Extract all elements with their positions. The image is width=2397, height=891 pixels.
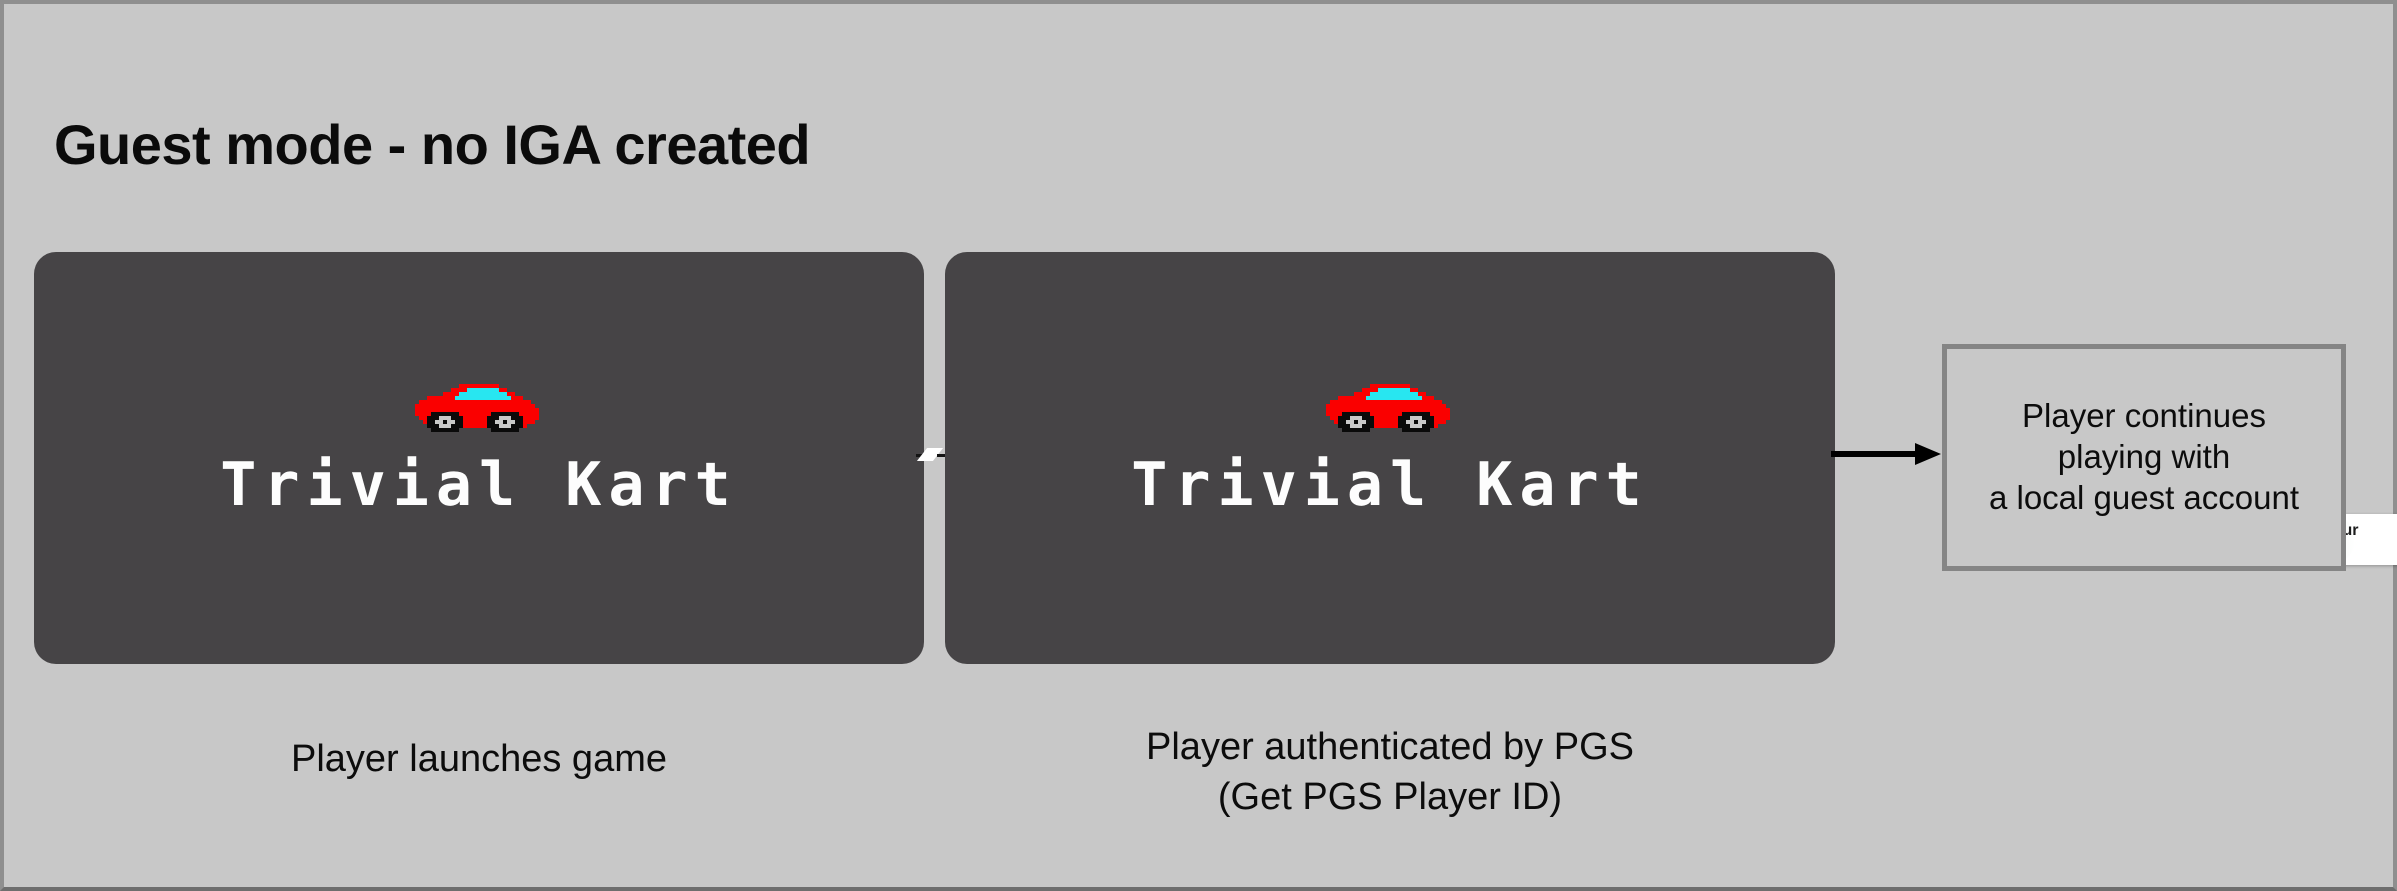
game-wordmark: Trivial Kart <box>945 450 1835 520</box>
game-panel-authenticated: Hey there, wooshur Level 10 <box>945 252 1835 664</box>
outcome-line-3: a local guest account <box>1989 478 2299 519</box>
outcome-text: Player continues playing with a local gu… <box>1989 396 2299 519</box>
diagram-canvas: Guest mode - no IGA created <box>0 0 2397 891</box>
arrow-shaft <box>1831 451 1919 457</box>
pixel-race-car-icon <box>1318 376 1462 438</box>
outcome-line-2: playing with <box>1989 437 2299 478</box>
caption-line-1: Player authenticated by PGS <box>945 722 1835 772</box>
caption-panel-authenticated: Player authenticated by PGS (Get PGS Pla… <box>945 722 1835 822</box>
car-svg <box>1318 376 1462 440</box>
panel-content: Hey there, wooshur Level 10 <box>945 252 1835 664</box>
panel-content: Trivial Kart <box>34 252 924 664</box>
outcome-box: Player continues playing with a local gu… <box>1942 344 2346 571</box>
page-title: Guest mode - no IGA created <box>54 112 810 177</box>
arrow-right-icon <box>1831 443 1941 465</box>
car-svg <box>407 376 551 440</box>
caption-line-2: (Get PGS Player ID) <box>945 772 1835 822</box>
caption-panel-launch: Player launches game <box>34 734 924 784</box>
caption-line-1: Player launches game <box>34 734 924 784</box>
arrow-head <box>1915 443 1941 465</box>
diamond-arrow-icon <box>916 447 946 463</box>
outcome-line-1: Player continues <box>1989 396 2299 437</box>
game-panel-launch: Trivial Kart <box>34 252 924 664</box>
game-wordmark: Trivial Kart <box>34 450 924 520</box>
pixel-race-car-icon <box>407 376 551 438</box>
